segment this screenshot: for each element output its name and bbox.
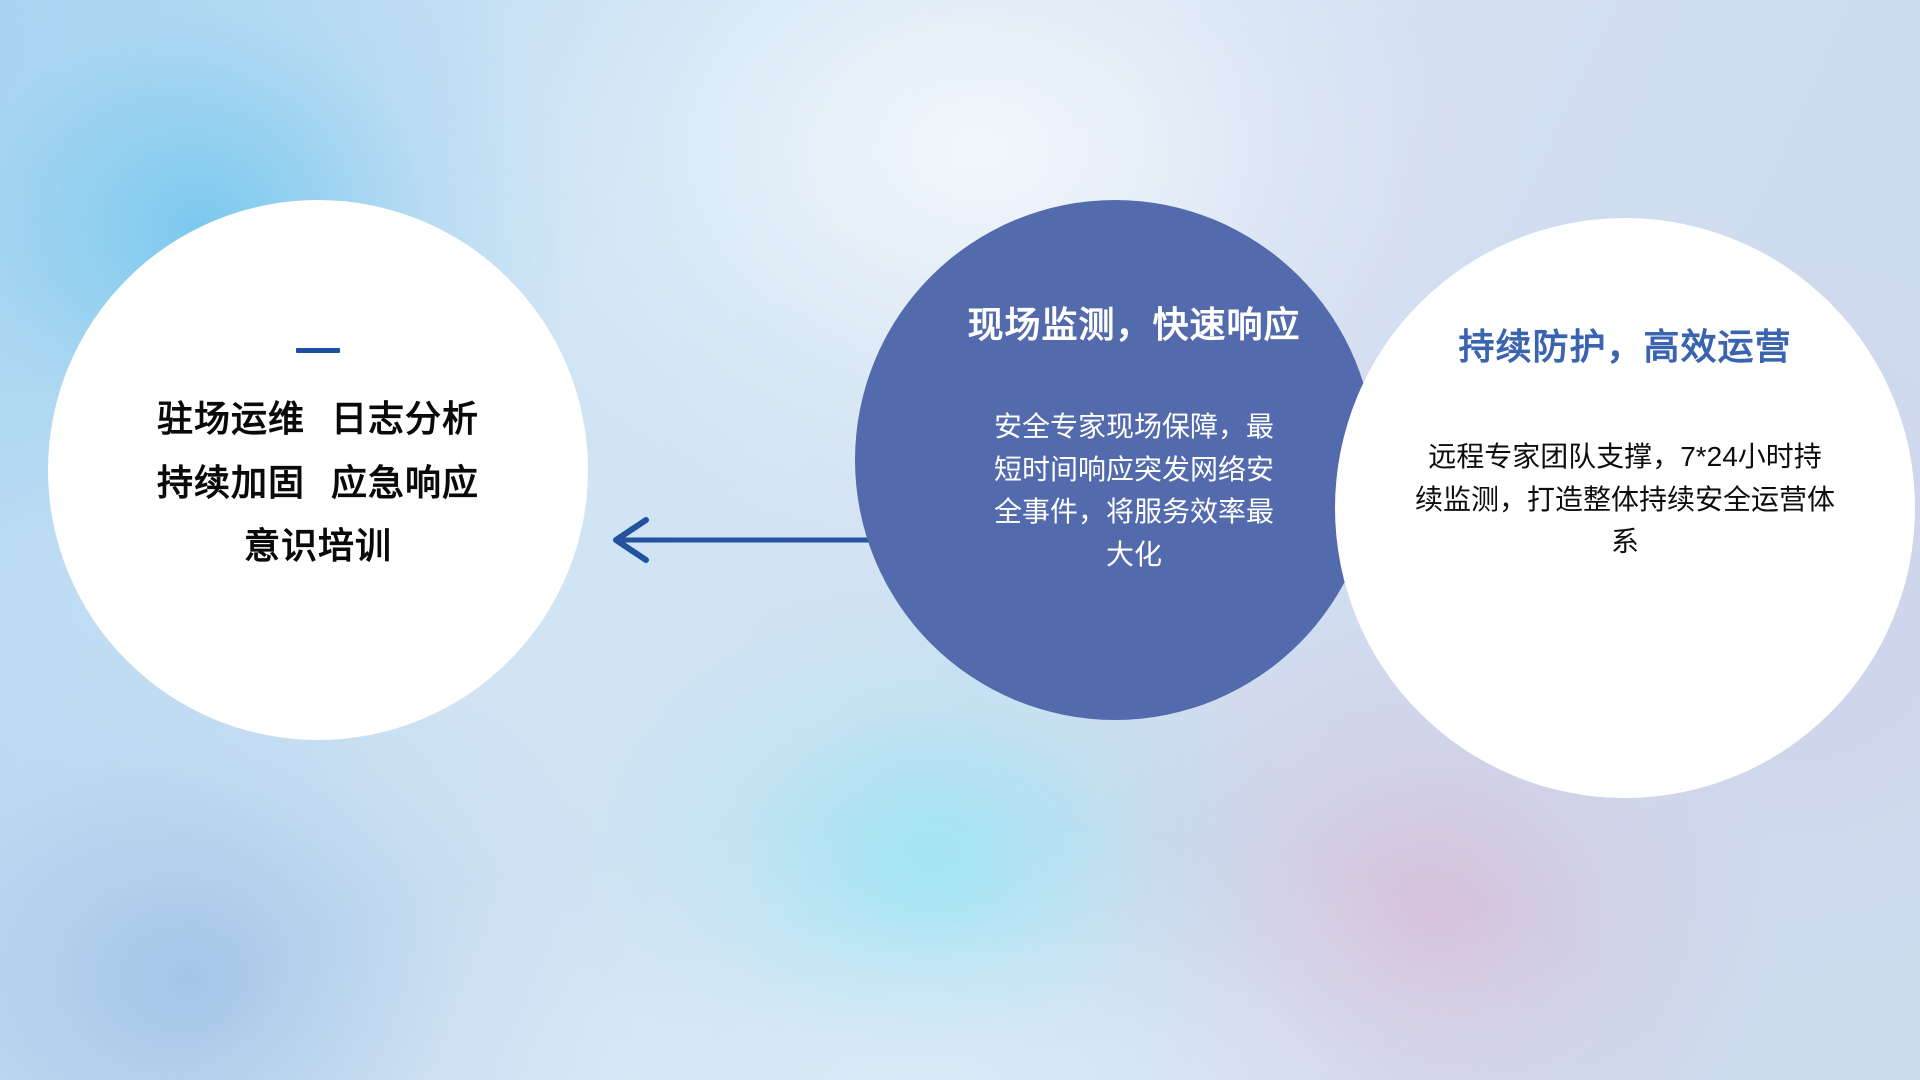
capability-line-3: 意识培训 xyxy=(244,526,392,566)
capability-item-yingji-xiangying: 应急响应 xyxy=(331,462,479,503)
capability-line-2: 持续加固应急响应 xyxy=(157,463,479,503)
right-white-circle xyxy=(1335,218,1915,798)
capability-list: 驻场运维日志分析 持续加固应急响应 意识培训 xyxy=(157,399,479,566)
blue-dash-divider xyxy=(296,348,340,353)
left-circle-content: 驻场运维日志分析 持续加固应急响应 意识培训 xyxy=(48,200,588,740)
slide-canvas: 驻场运维日志分析 持续加固应急响应 意识培训 现场监测，快速响应 安全专家现场保… xyxy=(0,0,1920,1080)
middle-blue-circle xyxy=(855,200,1375,720)
left-pointing-arrow-icon xyxy=(600,500,890,580)
capability-item-zhuchang-yunwei: 驻场运维 xyxy=(157,398,305,439)
capability-line-1: 驻场运维日志分析 xyxy=(157,399,479,439)
capability-item-rizhi-fenxi: 日志分析 xyxy=(331,398,479,439)
capability-item-yishi-peixun: 意识培训 xyxy=(244,525,392,566)
capability-item-chixu-jiagu: 持续加固 xyxy=(157,462,305,503)
